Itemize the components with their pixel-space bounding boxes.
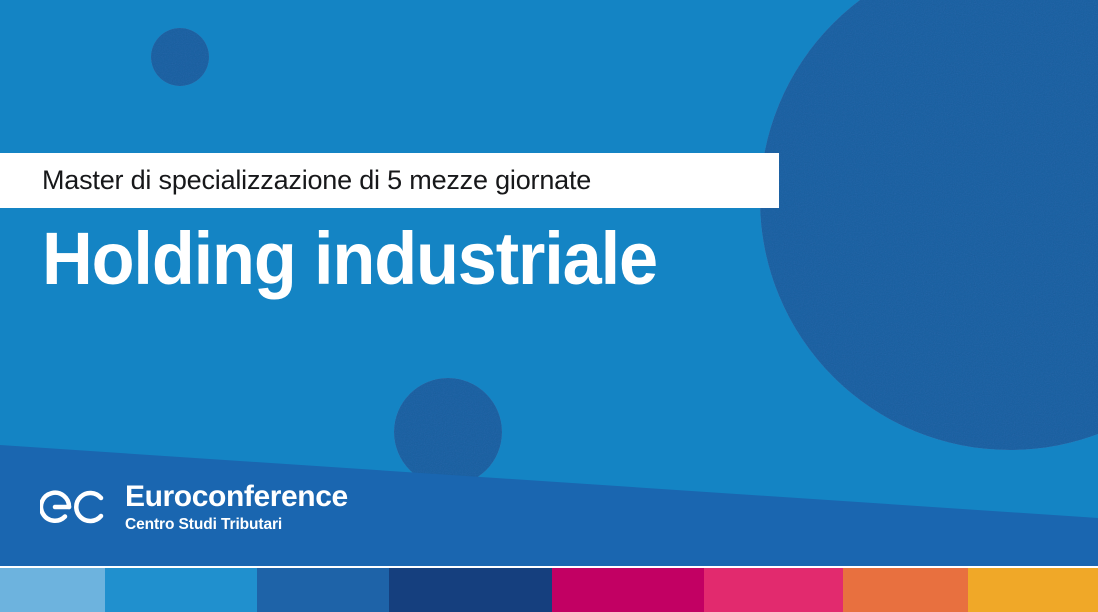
swatch-steel-blue (257, 568, 389, 612)
promo-banner: Master di specializzazione di 5 mezze gi… (0, 0, 1098, 612)
swatch-magenta (552, 568, 704, 612)
ec-monogram-icon (40, 485, 112, 529)
swatch-navy (389, 568, 552, 612)
swatch-blue (105, 568, 257, 612)
swatch-amber (968, 568, 1098, 612)
kicker-strip: Master di specializzazione di 5 mezze gi… (0, 153, 779, 208)
logo-tagline: Centro Studi Tributari (125, 517, 348, 533)
kicker-text: Master di specializzazione di 5 mezze gi… (42, 167, 591, 194)
swatch-orange (843, 568, 968, 612)
small-circle-top-left (151, 28, 209, 86)
logo-name: Euroconference (125, 482, 348, 512)
title-wrap: Holding industriale (42, 222, 842, 296)
page-title: Holding industriale (42, 222, 802, 296)
color-bar (0, 568, 1098, 612)
swatch-light-blue (0, 568, 105, 612)
medium-circle-center (394, 378, 502, 486)
logo-words: Euroconference Centro Studi Tributari (125, 482, 348, 533)
swatch-pink (704, 568, 843, 612)
logo-lockup: Euroconference Centro Studi Tributari (40, 482, 348, 533)
